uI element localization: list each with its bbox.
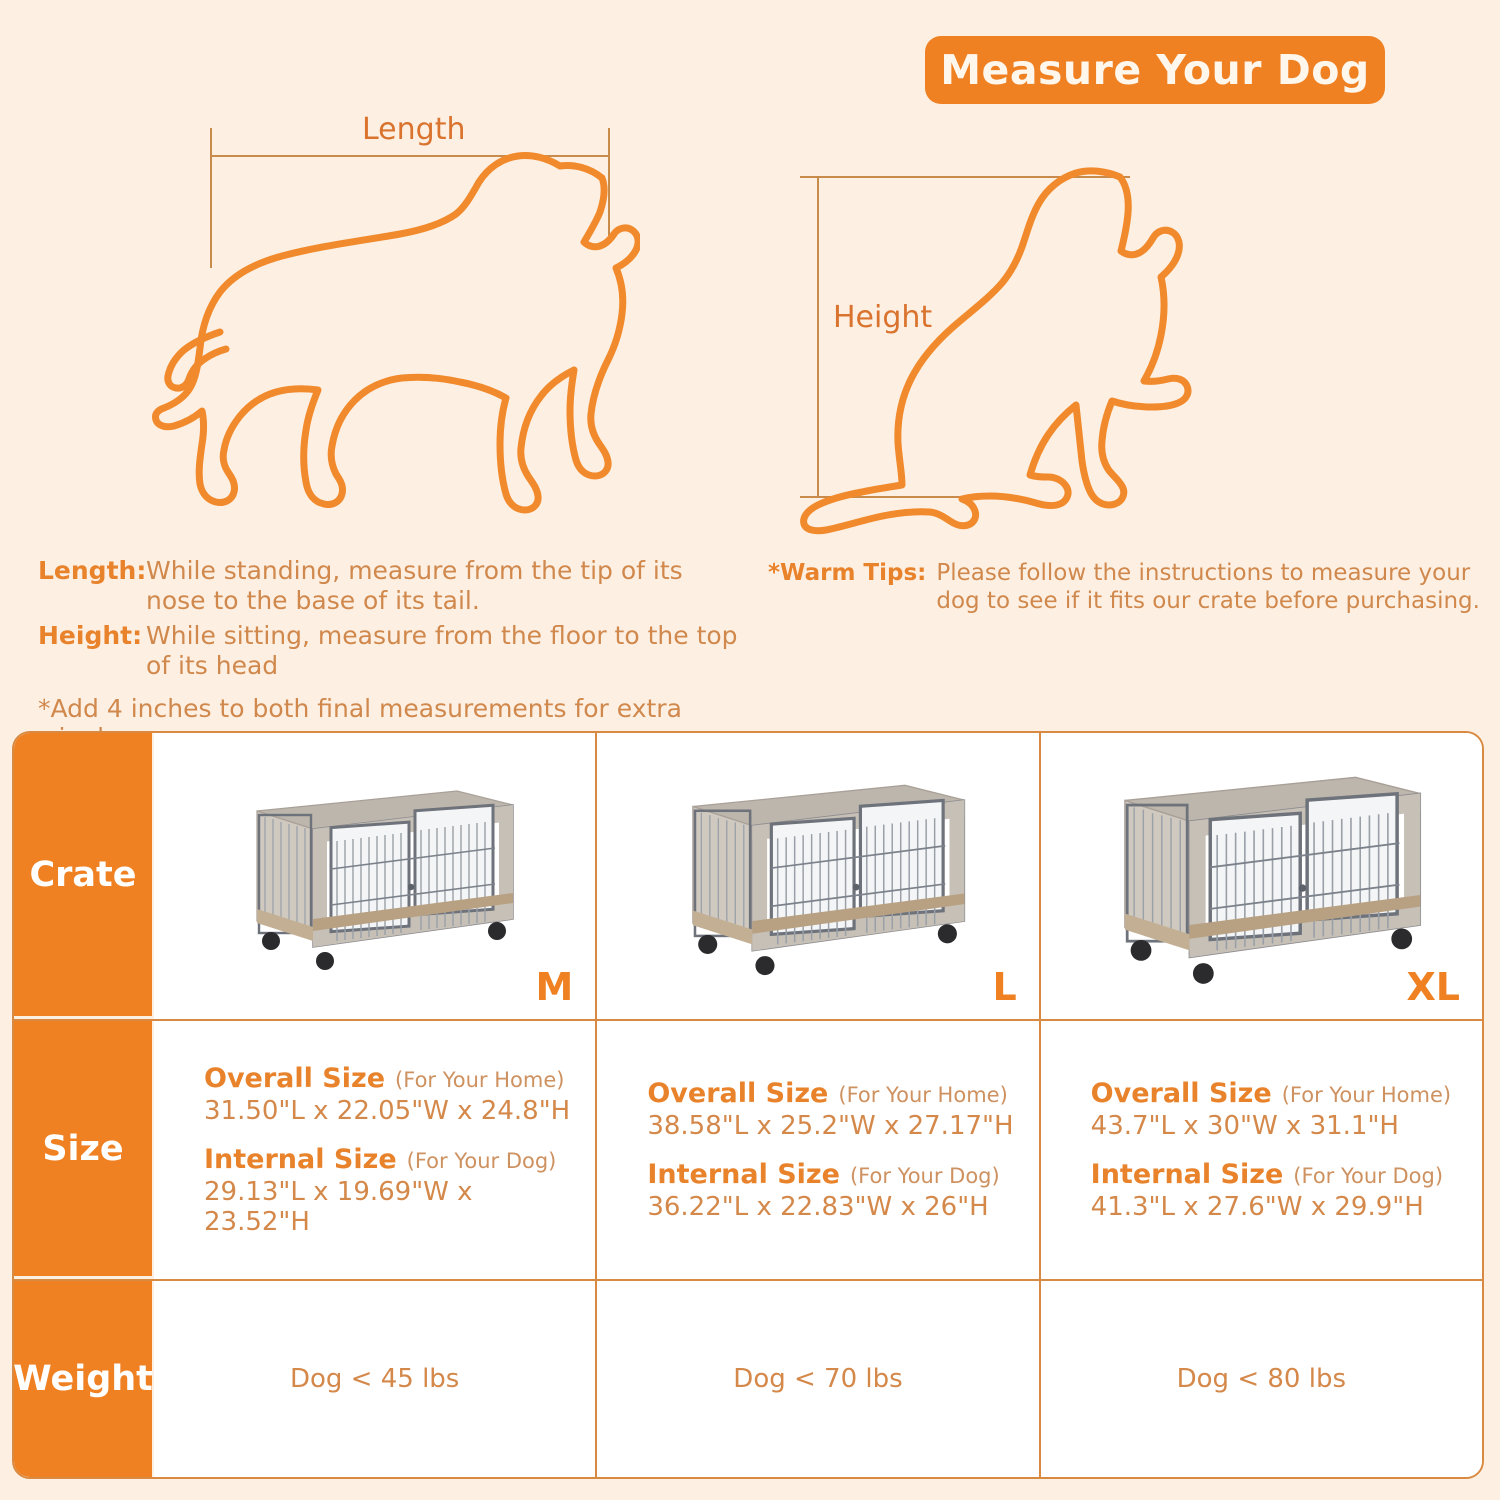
crate-cell-xl[interactable]: XL [1041,733,1482,1019]
weight-cells: Dog < 45 lbs Dog < 70 lbs Dog < 80 lbs [154,1281,1482,1477]
overall-size-dims-m: 31.50"L x 22.05"W x 24.8"H [204,1096,581,1126]
measurement-illustration-zone: Length Height [0,0,1500,545]
row-label-crate: Crate [14,733,154,1019]
dog-crate-furniture-icon [1065,752,1457,1000]
table-row-size: Size Overall Size (For Your Home) 31.50"… [14,1021,1482,1281]
internal-size-title-l: Internal Size [647,1159,840,1190]
internal-size-sub-xl: (For Your Dog) [1293,1164,1443,1188]
weight-value-m: Dog < 45 lbs [290,1364,459,1394]
weight-cell-xl: Dog < 80 lbs [1041,1281,1482,1477]
warm-tips: *Warm Tips: Please follow the instructio… [768,560,1483,615]
overall-size-sub-xl: (For Your Home) [1282,1083,1451,1107]
weight-cell-l: Dog < 70 lbs [597,1281,1040,1477]
table-row-crate: Crate [14,733,1482,1021]
size-tag-l: L [992,965,1016,1009]
internal-size-header-l: Internal Size (For Your Dog) [647,1159,1024,1190]
crate-image-wrap-m: M [154,733,595,1019]
warm-tips-key: *Warm Tips: [768,560,926,586]
crate-cells: M [154,733,1482,1019]
overall-size-dims-l: 38.58"L x 25.2"W x 27.17"H [647,1111,1024,1141]
instruction-height-row: Height: While sitting, measure from the … [38,621,738,680]
measurement-instructions: Length: While standing, measure from the… [38,556,738,752]
size-tag-xl: XL [1406,965,1460,1009]
size-tag-m: M [536,965,574,1009]
internal-size-title-xl: Internal Size [1091,1159,1284,1190]
internal-size-dims-l: 36.22"L x 22.83"W x 26"H [647,1192,1024,1222]
overall-size-dims-xl: 43.7"L x 30"W x 31.1"H [1091,1111,1468,1141]
internal-size-header-xl: Internal Size (For Your Dog) [1091,1159,1468,1190]
size-cell-m: Overall Size (For Your Home) 31.50"L x 2… [154,1021,597,1279]
dog-sitting-outline-icon [790,155,1260,535]
size-cell-xl: Overall Size (For Your Home) 43.7"L x 30… [1041,1021,1482,1279]
instruction-length-row: Length: While standing, measure from the… [38,556,738,615]
crate-cell-l[interactable]: L [597,733,1040,1019]
internal-size-sub-l: (For Your Dog) [850,1164,1000,1188]
internal-size-sub-m: (For Your Dog) [407,1149,557,1173]
dog-crate-furniture-icon [225,769,525,984]
instruction-height-text: While sitting, measure from the floor to… [146,621,738,680]
instruction-height-key: Height: [38,621,146,650]
crate-spec-table: Crate [12,731,1484,1479]
crate-cell-m[interactable]: M [154,733,597,1019]
overall-size-header-m: Overall Size (For Your Home) [204,1063,581,1094]
overall-size-title-l: Overall Size [647,1078,828,1109]
weight-value-l: Dog < 70 lbs [733,1364,902,1394]
size-cell-l: Overall Size (For Your Home) 38.58"L x 2… [597,1021,1040,1279]
dog-crate-furniture-icon [643,762,993,990]
internal-size-title-m: Internal Size [204,1144,397,1175]
internal-size-header-m: Internal Size (For Your Dog) [204,1144,581,1175]
table-row-weight: Weight Dog < 45 lbs Dog < 70 lbs Dog < 8… [14,1281,1482,1477]
overall-size-title-m: Overall Size [204,1063,385,1094]
overall-size-title-xl: Overall Size [1091,1078,1272,1109]
overall-size-sub-l: (For Your Home) [838,1083,1007,1107]
instruction-length-key: Length: [38,556,146,585]
internal-size-dims-m: 29.13"L x 19.69"W x 23.52"H [204,1177,581,1237]
crate-image-wrap-l: L [597,733,1038,1019]
size-cells: Overall Size (For Your Home) 31.50"L x 2… [154,1021,1482,1279]
warm-tips-text: Please follow the instructions to measur… [936,560,1483,615]
overall-size-header-xl: Overall Size (For Your Home) [1091,1078,1468,1109]
internal-size-dims-xl: 41.3"L x 27.6"W x 29.9"H [1091,1192,1468,1222]
row-label-size: Size [14,1021,154,1279]
overall-size-header-l: Overall Size (For Your Home) [647,1078,1024,1109]
weight-value-xl: Dog < 80 lbs [1177,1364,1346,1394]
crate-image-wrap-xl: XL [1041,733,1482,1019]
dog-standing-outline-icon [150,120,640,520]
instruction-length-text: While standing, measure from the tip of … [146,556,738,615]
overall-size-sub-m: (For Your Home) [395,1068,564,1092]
weight-cell-m: Dog < 45 lbs [154,1281,597,1477]
row-label-weight: Weight [14,1281,154,1477]
